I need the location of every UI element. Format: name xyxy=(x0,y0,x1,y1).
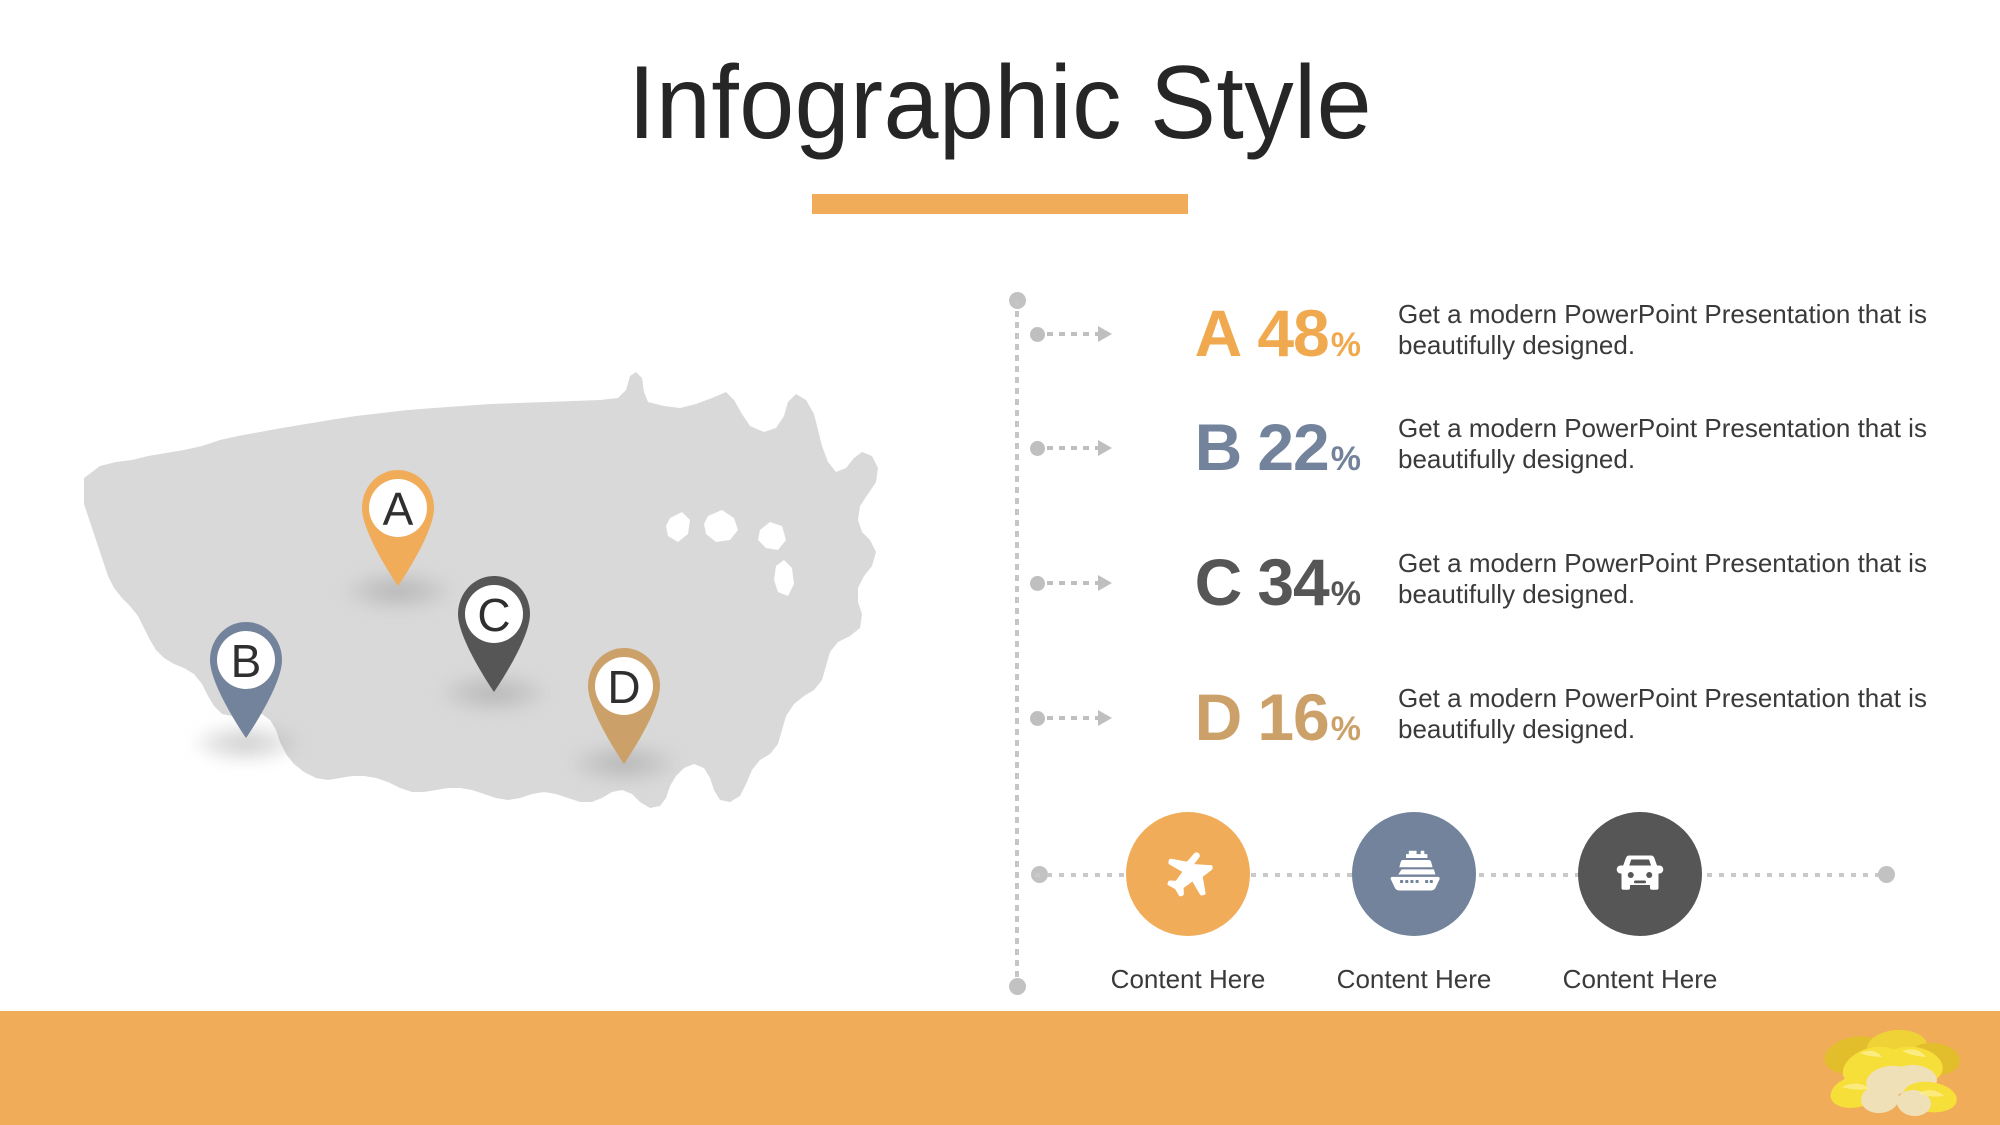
stat-value-a: A48% xyxy=(1130,286,1360,392)
stat-description-c: Get a modern PowerPoint Presentation tha… xyxy=(1398,548,1958,610)
stat-value-c: C34% xyxy=(1130,535,1360,641)
stat-letter-b: B xyxy=(1195,410,1242,484)
connector-dotted-line-c xyxy=(1047,581,1099,585)
stat-number-b: 22 xyxy=(1257,410,1328,484)
stat-row-b[interactable]: B22% Get a modern PowerPoint Presentatio… xyxy=(1030,400,1930,510)
connector-dot-d xyxy=(1030,711,1045,726)
connector-arrowhead-c xyxy=(1098,575,1112,591)
cruise-ship-icon xyxy=(1383,843,1445,905)
map-pin-d[interactable]: D xyxy=(574,640,674,766)
icon-circle-cruise-ship[interactable] xyxy=(1352,812,1476,936)
connector-dot-b xyxy=(1030,441,1045,456)
bottom-accent-band xyxy=(0,1011,2000,1125)
connector-arrowhead-a xyxy=(1098,326,1112,342)
stat-description-a: Get a modern PowerPoint Presentation tha… xyxy=(1398,299,1958,361)
corn-kernels-decoration xyxy=(1802,1015,1972,1123)
stat-row-c[interactable]: C34% Get a modern PowerPoint Presentatio… xyxy=(1030,535,1930,645)
connector-dotted-line-b xyxy=(1047,446,1099,450)
connector-dot-a xyxy=(1030,327,1045,342)
connector-dotted-line-a xyxy=(1047,332,1099,336)
icon-track-right-dot xyxy=(1878,866,1895,883)
map-pin-a[interactable]: A xyxy=(348,462,448,588)
connector-dotted-line-d xyxy=(1047,716,1099,720)
stat-letter-a: A xyxy=(1195,296,1242,370)
stat-description-b: Get a modern PowerPoint Presentation tha… xyxy=(1398,413,1958,475)
map-pin-c[interactable]: C xyxy=(444,568,544,694)
stat-value-b: B22% xyxy=(1130,400,1360,506)
connector-arrowhead-b xyxy=(1098,440,1112,456)
stat-value-d: D16% xyxy=(1130,670,1360,776)
stat-unit-c: % xyxy=(1331,575,1360,613)
stat-unit-d: % xyxy=(1331,710,1360,748)
icon-item-cruise-ship[interactable]: Content Here xyxy=(1294,812,1534,995)
connector-arrow-b xyxy=(1030,438,1116,456)
icon-item-airplane[interactable]: Content Here xyxy=(1068,812,1308,995)
stat-unit-b: % xyxy=(1331,440,1360,478)
connector-arrow-a xyxy=(1030,324,1116,342)
title-underline-bar xyxy=(812,194,1188,214)
connector-dot-c xyxy=(1030,576,1045,591)
stat-description-d: Get a modern PowerPoint Presentation tha… xyxy=(1398,683,1958,745)
stat-number-d: 16 xyxy=(1257,680,1328,754)
stat-number-a: 48 xyxy=(1257,296,1328,370)
connector-arrowhead-d xyxy=(1098,710,1112,726)
airplane-icon xyxy=(1157,843,1219,905)
icon-label-cruise-ship: Content Here xyxy=(1294,964,1534,995)
stat-row-d[interactable]: D16% Get a modern PowerPoint Presentatio… xyxy=(1030,670,1930,780)
map-pin-b[interactable]: B xyxy=(196,614,296,740)
map-container: A B C D xyxy=(70,370,970,930)
timeline-vertical-line xyxy=(1015,300,1019,990)
connector-arrow-c xyxy=(1030,573,1116,591)
stat-letter-d: D xyxy=(1195,680,1242,754)
icon-item-car[interactable]: Content Here xyxy=(1520,812,1760,995)
connector-arrow-d xyxy=(1030,708,1116,726)
icon-label-car: Content Here xyxy=(1520,964,1760,995)
car-icon xyxy=(1610,844,1670,904)
stat-number-c: 34 xyxy=(1257,545,1328,619)
stat-row-a[interactable]: A48% Get a modern PowerPoint Presentatio… xyxy=(1030,286,1930,396)
timeline-bottom-dot xyxy=(1009,978,1026,995)
stat-letter-c: C xyxy=(1195,545,1242,619)
icon-circle-car[interactable] xyxy=(1578,812,1702,936)
icon-circle-airplane[interactable] xyxy=(1126,812,1250,936)
icon-label-airplane: Content Here xyxy=(1068,964,1308,995)
page-title: Infographic Style xyxy=(50,42,1950,165)
stat-unit-a: % xyxy=(1331,326,1360,364)
